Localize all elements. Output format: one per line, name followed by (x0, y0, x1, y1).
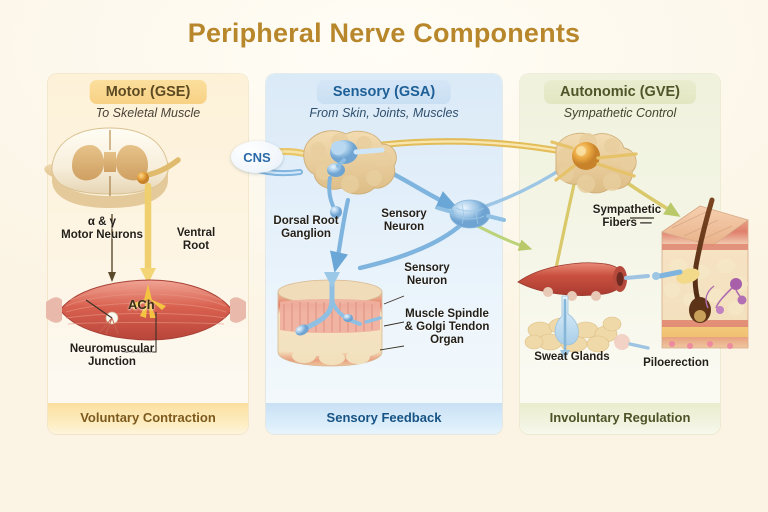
label-sensory-neuron-lower: Sensory Neuron (389, 262, 465, 288)
panel-autonomic-subtitle: Sympathetic Control (520, 106, 720, 120)
label-sympathetic-fibers-line1: Sympathetic (578, 204, 676, 217)
label-muscle-spindle-line1: Muscle Spindle (385, 308, 509, 321)
label-ventral-root-line1: Ventral (162, 227, 230, 240)
label-ventral-root: Ventral Root (162, 227, 230, 253)
panel-sensory: Sensory (GSA) From Skin, Joints, Muscles… (266, 74, 502, 434)
panel-motor: Motor (GSE) To Skeletal Muscle Voluntary… (48, 74, 248, 434)
panel-sensory-heading: Sensory (GSA) (317, 80, 451, 104)
label-sensory-neuron-upper-line2: Neuron (366, 221, 442, 234)
panel-autonomic-heading: Autonomic (GVE) (544, 80, 696, 104)
panel-autonomic-footer: Involuntary Regulation (520, 403, 720, 434)
label-sympathetic-fibers: Sympathetic Fibers — (578, 204, 676, 230)
panel-sensory-footer: Sensory Feedback (266, 403, 502, 434)
label-sensory-neuron-lower-line1: Sensory (389, 262, 465, 275)
label-nmj-line2: Junction (46, 356, 178, 369)
label-sensory-neuron-lower-line2: Neuron (389, 275, 465, 288)
label-ach: ACh (128, 297, 155, 312)
label-muscle-spindle-line3: Organ (385, 334, 509, 347)
label-sensory-neuron-upper: Sensory Neuron (366, 208, 442, 234)
label-dorsal-root-ganglion: Dorsal Root Ganglion (258, 215, 354, 241)
panel-motor-subtitle: To Skeletal Muscle (48, 106, 248, 120)
panel-autonomic: Autonomic (GVE) Sympathetic Control Invo… (520, 74, 720, 434)
label-motor-neurons-line1: α & γ (50, 216, 154, 229)
label-muscle-spindle-line2: & Golgi Tendon (385, 321, 509, 334)
panel-motor-footer: Voluntary Contraction (48, 403, 248, 434)
label-drg-line1: Dorsal Root (258, 215, 354, 228)
label-nmj-line1: Neuromuscular (46, 343, 178, 356)
diagram-canvas: Peripheral Nerve Components Motor (GSE) … (0, 0, 768, 512)
panel-sensory-subtitle: From Skin, Joints, Muscles (266, 106, 502, 120)
cns-badge: CNS (231, 141, 283, 173)
cns-label: CNS (243, 150, 270, 165)
label-sweat-glands: Sweat Glands (522, 351, 622, 364)
label-neuromuscular-junction: Neuromuscular Junction (46, 343, 178, 369)
label-sensory-neuron-upper-line1: Sensory (366, 208, 442, 221)
label-motor-neurons: α & γ Motor Neurons (50, 216, 154, 242)
label-sympathetic-fibers-line2: Fibers — (578, 217, 676, 230)
page-title: Peripheral Nerve Components (0, 18, 768, 49)
label-muscle-spindle: Muscle Spindle & Golgi Tendon Organ (385, 308, 509, 347)
label-motor-neurons-line2: Motor Neurons (50, 229, 154, 242)
label-ventral-root-line2: Root (162, 240, 230, 253)
panel-motor-heading: Motor (GSE) (90, 80, 207, 104)
label-piloerection: Piloerection (628, 357, 724, 370)
label-drg-line2: Ganglion (258, 228, 354, 241)
